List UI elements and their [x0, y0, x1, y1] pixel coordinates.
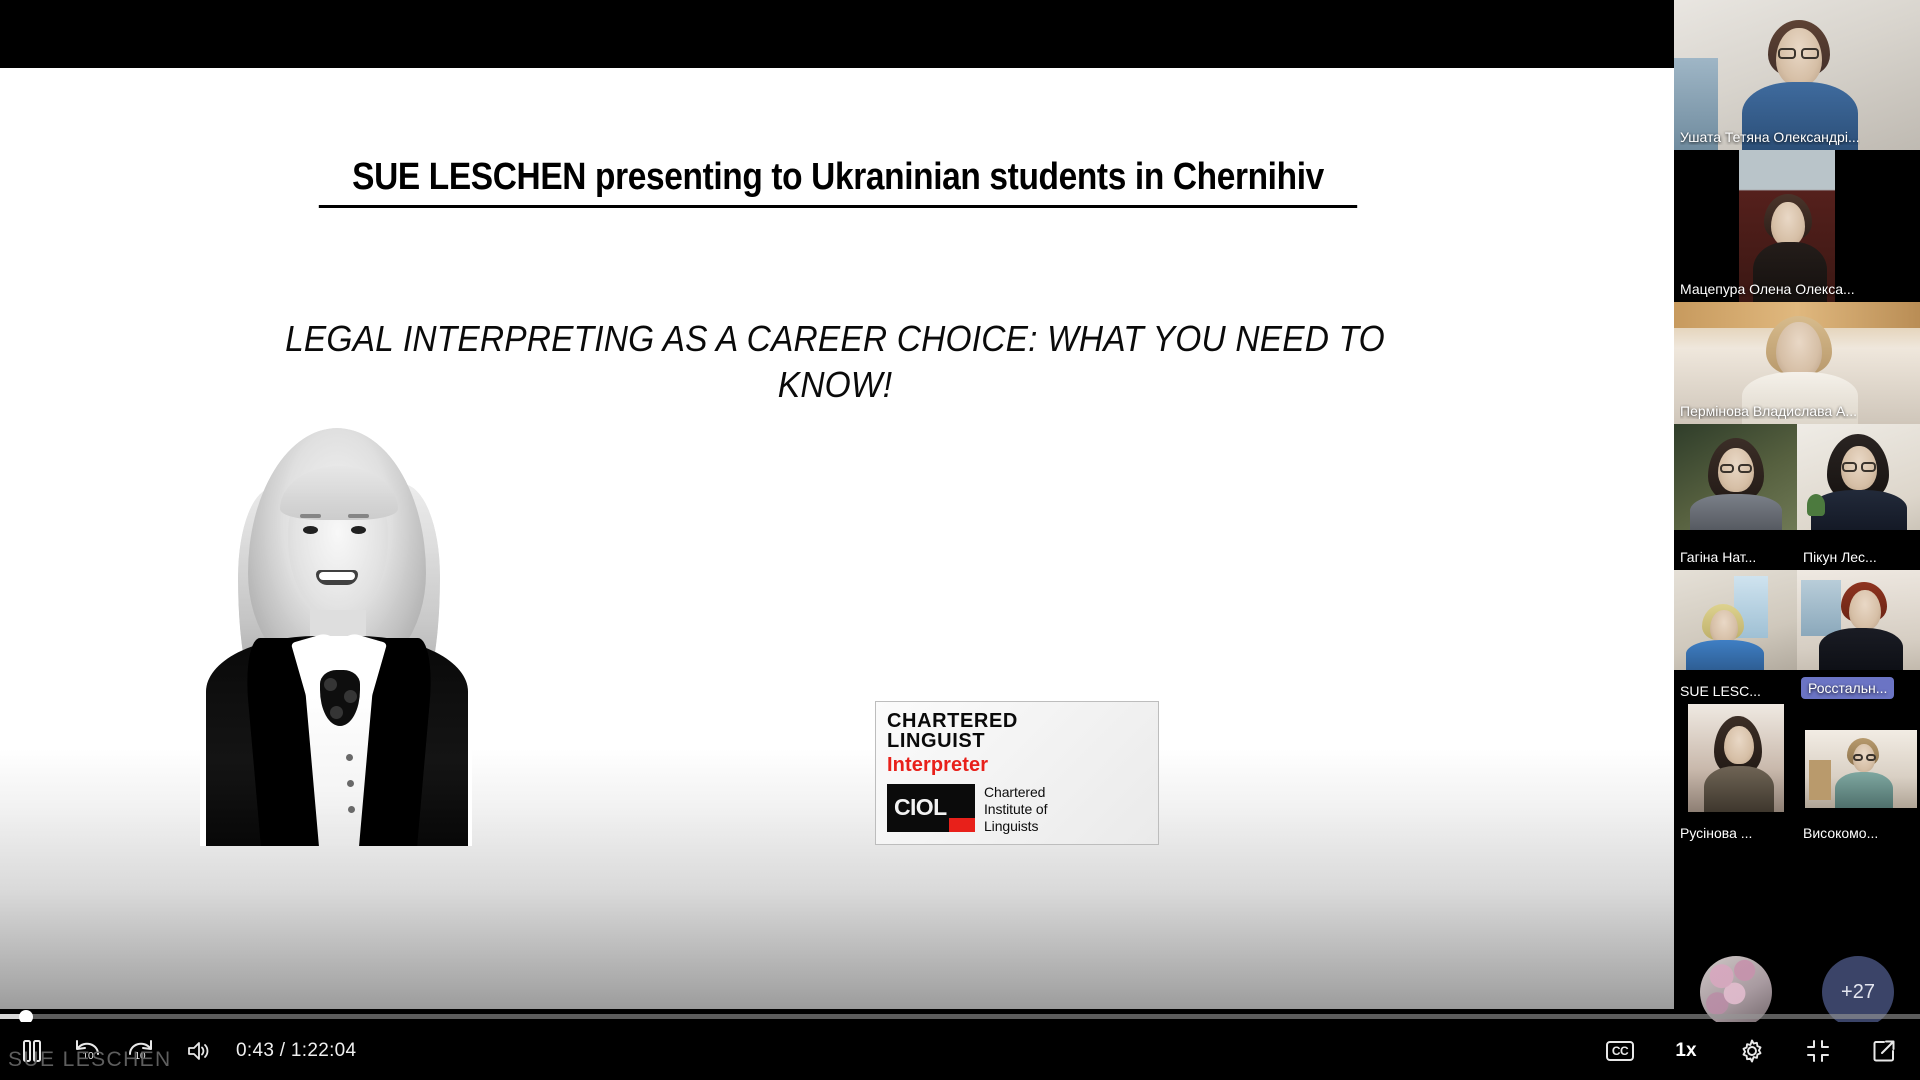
participant-video-inner — [1739, 150, 1835, 302]
svg-text:10: 10 — [82, 1051, 94, 1062]
participant-rail[interactable]: Ушата Тетяна Олександрі... Мацепура Олен… — [1674, 0, 1920, 1080]
participant-video[interactable]: Русінова ... — [1674, 704, 1797, 846]
participant-video[interactable]: SUE LESC... — [1674, 570, 1797, 704]
participant-head — [1776, 322, 1822, 378]
ciol-institute-line-3: Linguists — [984, 818, 1047, 835]
player-right-controls[interactable]: CC 1x — [1598, 1022, 1906, 1080]
participant-name: Русінова ... — [1680, 825, 1752, 841]
ciol-qualification: Interpreter — [887, 755, 1147, 776]
progress-bar[interactable] — [0, 1010, 1920, 1022]
participant-tile[interactable]: Мацепура Олена Олекса... — [1674, 150, 1920, 302]
slide-title: SUE LESCHEN presenting to Ukraninian stu… — [319, 156, 1357, 208]
participant-torso — [1811, 490, 1907, 530]
photo-teeth — [319, 572, 355, 580]
photo-bead — [324, 678, 337, 691]
photo-eye-left — [303, 526, 318, 534]
video-player-page: SUE LESCHEN presenting to Ukraninian stu… — [0, 0, 1920, 1080]
glasses-icon — [1720, 464, 1734, 473]
pause-button[interactable] — [10, 1029, 54, 1073]
ciol-institute-block: CIOL Chartered Institute of Linguists — [887, 784, 1147, 835]
captions-button[interactable]: CC — [1598, 1029, 1642, 1073]
overflow-count: +27 — [1841, 981, 1875, 1004]
glasses-icon — [1853, 754, 1863, 761]
forward-10-button[interactable]: 10 — [118, 1029, 162, 1073]
participant-video-inner — [1805, 730, 1917, 808]
photo-brow-right — [348, 514, 369, 518]
participant-video[interactable]: Росстальн... — [1797, 570, 1920, 704]
video-stage[interactable]: SUE LESCHEN presenting to Ukraninian stu… — [0, 0, 1674, 1080]
participant-torso — [1686, 640, 1764, 670]
participant-tile[interactable]: SUE LESC... Росстальн... — [1674, 570, 1920, 704]
time-display: 0:43 / 1:22:04 — [236, 1040, 356, 1062]
ciol-institute-line-2: Institute of — [984, 801, 1047, 818]
volume-button[interactable] — [176, 1029, 220, 1073]
volume-icon — [185, 1039, 211, 1063]
gear-icon — [1739, 1038, 1765, 1064]
popout-button[interactable] — [1862, 1029, 1906, 1073]
ciol-line-chartered: CHARTERED — [887, 711, 1147, 731]
forward-10-icon: 10 — [125, 1037, 155, 1065]
presentation-slide: SUE LESCHEN presenting to Ukraninian stu… — [0, 68, 1674, 1009]
participant-tile[interactable]: Русінова ... Високомо... — [1674, 704, 1920, 846]
slide-subtitle: LEGAL INTERPRETING AS A CAREER CHOICE: W… — [272, 316, 1397, 408]
participant-video — [1674, 150, 1920, 302]
photo-bead — [330, 706, 343, 719]
participant-tile[interactable]: Пермінова Владислава А... — [1674, 302, 1920, 424]
presenter-photo — [200, 422, 472, 846]
ciol-logo: CHARTERED LINGUIST Interpreter CIOL Char… — [875, 701, 1159, 845]
settings-button[interactable] — [1730, 1029, 1774, 1073]
window-light — [1801, 580, 1841, 636]
ciol-mark-icon: CIOL — [887, 784, 975, 832]
participant-tile[interactable]: Гагіна Нат... Пікун Лес... — [1674, 424, 1920, 570]
pause-icon — [21, 1039, 43, 1063]
participant-head — [1849, 590, 1881, 630]
participant-head — [1710, 610, 1738, 644]
progress-track[interactable] — [0, 1014, 1920, 1019]
plant-decor — [1807, 494, 1825, 516]
ciol-institute-line-1: Chartered — [984, 784, 1047, 801]
participant-name: SUE LESC... — [1680, 683, 1761, 699]
glasses-icon — [1842, 462, 1857, 472]
participant-head — [1724, 726, 1754, 764]
rewind-10-button[interactable]: 10 — [66, 1029, 110, 1073]
participant-video-inner — [1688, 704, 1784, 812]
participant-head — [1771, 202, 1805, 246]
photo-bead — [344, 690, 357, 703]
ciol-line-linguist: LINGUIST — [887, 731, 1147, 751]
photo-eye-right — [351, 526, 366, 534]
svg-text:10: 10 — [134, 1051, 146, 1062]
playback-speed-button[interactable]: 1x — [1664, 1029, 1708, 1073]
photo-button — [348, 806, 355, 813]
furniture-decor — [1809, 760, 1831, 800]
participant-name: Ушата Тетяна Олександрі... — [1680, 130, 1860, 145]
participant-tile[interactable]: Ушата Тетяна Олександрі... — [1674, 0, 1920, 150]
glasses-icon — [1866, 754, 1876, 761]
participant-name: Високомо... — [1803, 825, 1878, 841]
participant-torso — [1819, 628, 1903, 670]
glasses-icon — [1738, 464, 1752, 473]
participant-torso — [1690, 494, 1782, 530]
participant-video[interactable]: Високомо... — [1797, 704, 1920, 846]
participant-name: Гагіна Нат... — [1680, 549, 1756, 565]
glasses-icon — [1778, 48, 1796, 59]
participant-video[interactable]: Пікун Лес... — [1797, 424, 1920, 570]
exit-fullscreen-icon — [1805, 1038, 1831, 1064]
exit-fullscreen-button[interactable] — [1796, 1029, 1840, 1073]
speed-label: 1x — [1675, 1040, 1696, 1062]
player-controls[interactable]: 10 10 0:43 / 1:22:04 CC 1x — [0, 1022, 1920, 1080]
participant-name-active: Росстальн... — [1801, 677, 1894, 699]
participant-name: Мацепура Олена Олекса... — [1680, 282, 1855, 297]
participant-torso — [1704, 766, 1774, 812]
rewind-10-icon: 10 — [73, 1037, 103, 1065]
participant-video — [1674, 0, 1920, 150]
participant-torso — [1835, 772, 1893, 808]
glasses-icon — [1861, 462, 1876, 472]
ciol-mark-label: CIOL — [894, 794, 947, 821]
popout-icon — [1871, 1038, 1897, 1064]
participant-video[interactable]: Гагіна Нат... — [1674, 424, 1797, 570]
participant-name: Пікун Лес... — [1803, 549, 1877, 565]
photo-button — [346, 754, 353, 761]
ciol-institute-name: Chartered Institute of Linguists — [984, 784, 1047, 835]
participant-name: Пермінова Владислава А... — [1680, 404, 1857, 419]
cc-icon: CC — [1606, 1041, 1634, 1061]
photo-button — [347, 780, 354, 787]
photo-brow-left — [300, 514, 321, 518]
glasses-icon — [1801, 48, 1819, 59]
ciol-red-square — [949, 818, 975, 832]
